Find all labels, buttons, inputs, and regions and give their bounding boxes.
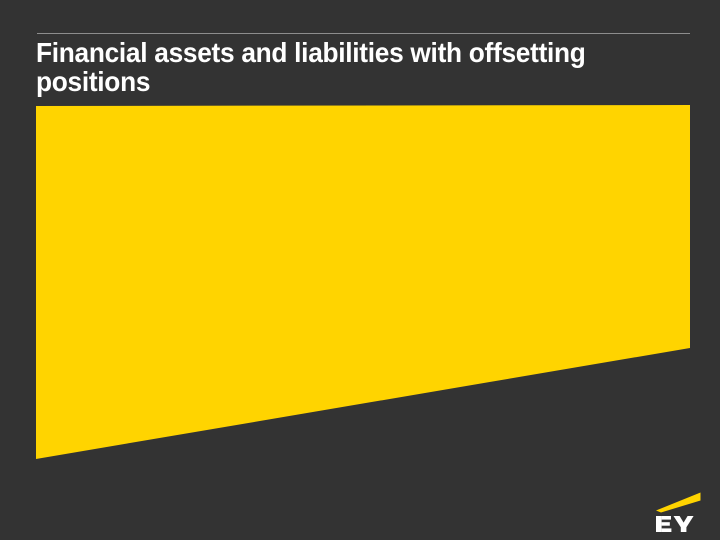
ey-logo: [655, 487, 707, 532]
page-title: Financial assets and liabilities with of…: [36, 38, 664, 96]
ey-wordmark: [656, 516, 694, 532]
title-divider: [37, 33, 690, 34]
slide-canvas: Financial assets and liabilities with of…: [0, 0, 720, 540]
content-placeholder[interactable]: [36, 104, 690, 460]
ey-beam-icon: [656, 493, 701, 513]
